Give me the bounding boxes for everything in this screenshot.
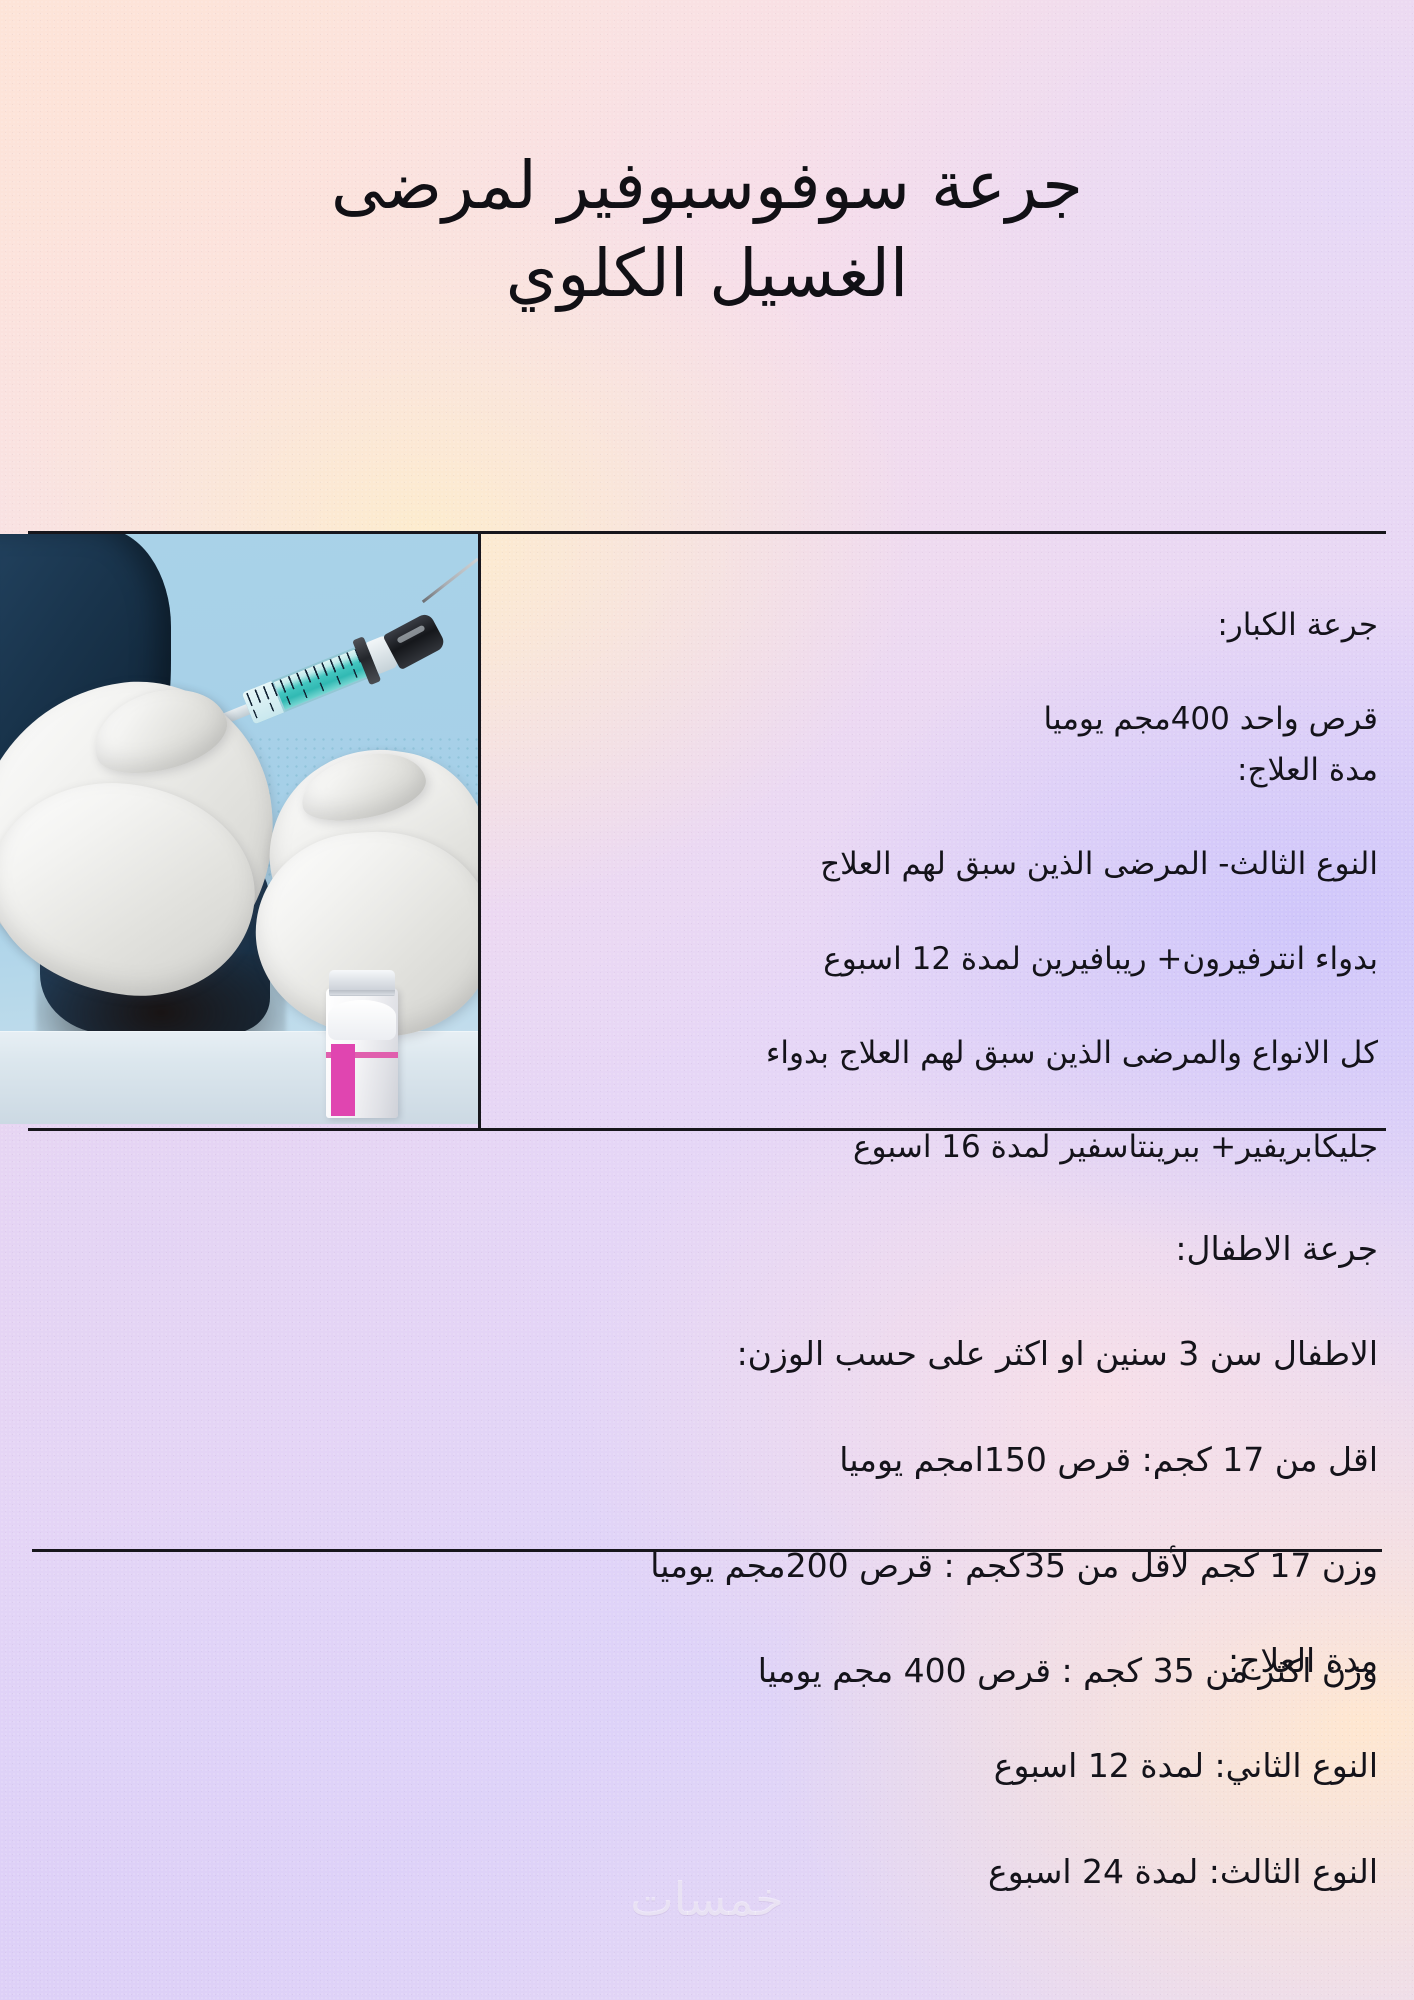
adult-duration-heading: مدة العلاج: — [678, 747, 1378, 794]
poster-root: جرعة سوفوسبوفير لمرضى الغسيل الكلوي — [0, 0, 1414, 2000]
adult-duration-line-2: بدواء انترفيرون+ ريبافيرين لمدة 12 اسبوع — [678, 936, 1378, 983]
photo-table-surface — [0, 1032, 478, 1124]
children-dose-line-1: الاطفال سن 3 سنين او اكثر على حسب الوزن: — [328, 1328, 1378, 1381]
vial-label-block — [331, 1044, 355, 1116]
watermark: خمسات — [0, 1872, 1414, 1926]
adult-duration-line-1: النوع الثالث- المرضى الذين سبق لهم العلا… — [678, 841, 1378, 888]
adult-duration-line-3: كل الانواع والمرضى الذين سبق لهم العلاج … — [678, 1030, 1378, 1077]
adult-duration-line-4: جليكابريفير+ ببرينتاسفير لمدة 16 اسبوع — [678, 1124, 1378, 1171]
adult-dose-heading: جرعة الكبار: — [738, 602, 1378, 649]
children-duration-heading: مدة العلاج: — [378, 1635, 1378, 1688]
vial-contents — [328, 1000, 396, 1040]
children-dose-heading: جرعة الاطفال: — [328, 1223, 1378, 1276]
children-dose-line-2: اقل من 17 كجم: قرص 150امجم يوميا — [328, 1434, 1378, 1487]
clinician-hands-syringe-vial-photo — [0, 534, 478, 1124]
children-duration-line-1: النوع الثاني: لمدة 12 اسبوع — [378, 1740, 1378, 1793]
section-adult-duration: مدة العلاج: النوع الثالث- المرضى الذين س… — [678, 700, 1378, 1218]
page-title: جرعة سوفوسبوفير لمرضى الغسيل الكلوي — [0, 142, 1414, 318]
divider-photo-vertical — [478, 534, 481, 1128]
vial-cap-ring — [329, 990, 395, 995]
photo-medicine-vial — [326, 970, 398, 1118]
